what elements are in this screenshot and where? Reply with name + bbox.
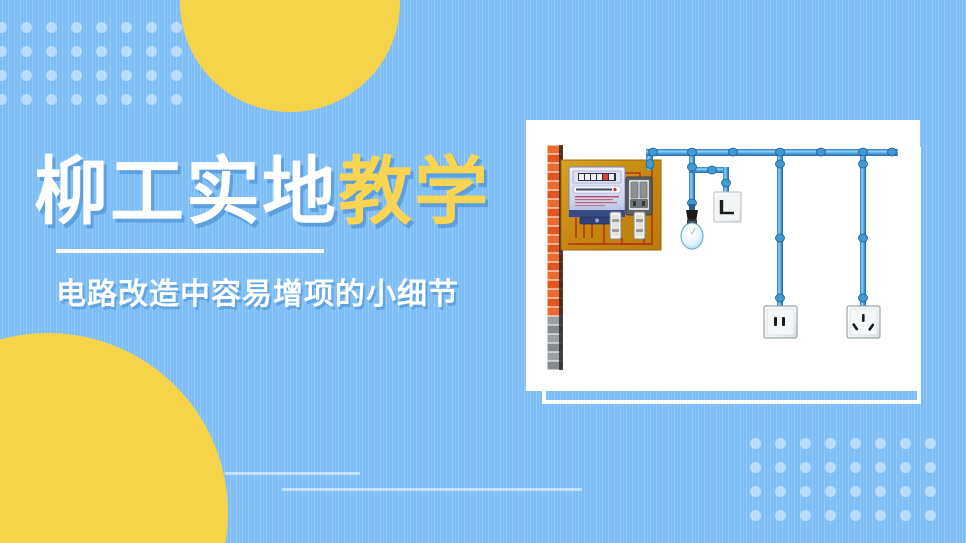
dot-grid-bottom-right — [750, 438, 936, 521]
fuse-left — [610, 212, 621, 239]
dot-grid-top-left — [0, 22, 182, 105]
wiring-diagram-svg — [526, 120, 920, 391]
page-subtitle: 电路改造中容易增项的小细节 — [56, 269, 514, 313]
fuse-right — [634, 212, 645, 239]
circuit-breaker — [626, 177, 652, 215]
poster-canvas: 柳工实地教学 电路改造中容易增项的小细节 — [0, 0, 966, 543]
two-pin-socket — [764, 306, 797, 338]
wall-switch — [714, 192, 741, 222]
three-pin-socket — [847, 306, 880, 338]
page-title-yellow-part: 教学 — [338, 150, 490, 233]
title-divider — [56, 249, 324, 253]
page-title-white-part: 柳工实地 — [34, 150, 338, 233]
meter-board — [561, 160, 661, 250]
title-block: 柳工实地教学 电路改造中容易增项的小细节 — [34, 155, 514, 313]
page-title: 柳工实地教学 — [34, 155, 514, 229]
decorative-line-upper — [225, 472, 360, 475]
decorative-line-lower — [282, 488, 582, 491]
wiring-diagram-photo — [526, 120, 920, 391]
